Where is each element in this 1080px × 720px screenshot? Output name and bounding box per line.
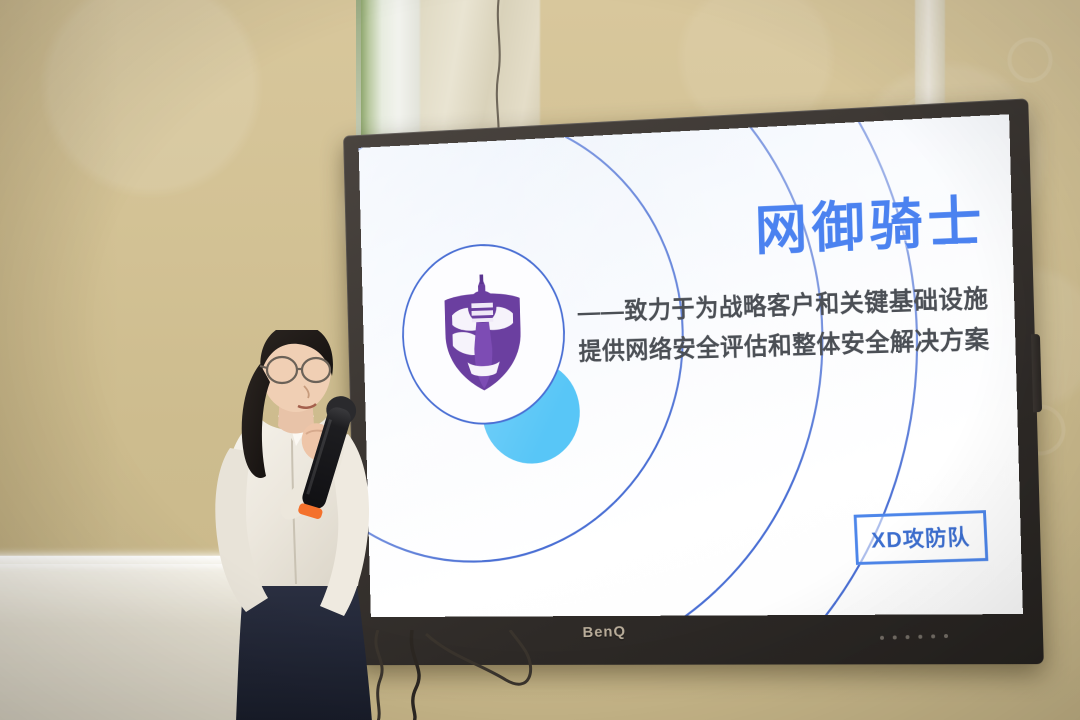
team-badge: XD攻防队: [854, 510, 988, 565]
wall-shading: [0, 0, 120, 560]
knight-shield-icon: [435, 273, 531, 396]
slide-text-block: 网御骑士 ——致力于为战略客户和关键基础设施 提供网络安全评估和整体安全解决方案: [542, 193, 990, 372]
presenter-figure: [186, 330, 436, 720]
presentation-scene: 网御骑士 ——致力于为战略客户和关键基础设施 提供网络安全评估和整体安全解决方案…: [0, 0, 1080, 720]
slide-canvas: 网御骑士 ——致力于为战略客户和关键基础设施 提供网络安全评估和整体安全解决方案…: [359, 114, 1023, 617]
display-screen[interactable]: 网御骑士 ——致力于为战略客户和关键基础设施 提供网络安全评估和整体安全解决方案…: [359, 114, 1023, 617]
